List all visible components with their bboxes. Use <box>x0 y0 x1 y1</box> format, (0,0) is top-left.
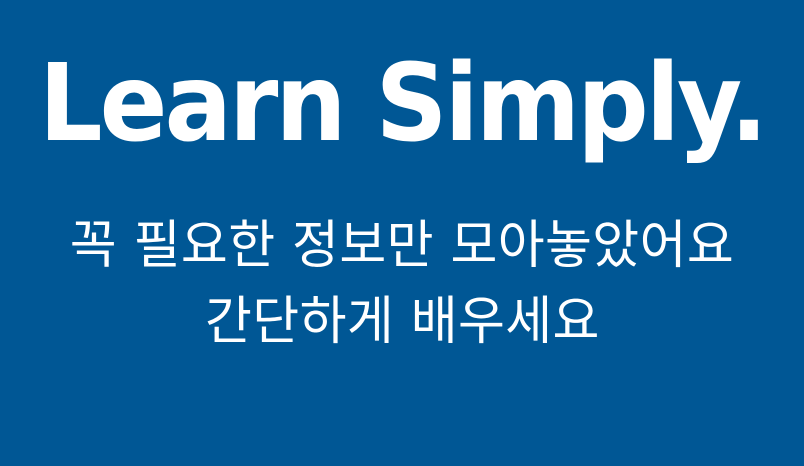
subtitle-line-1: 꼭 필요한 정보만 모아놓았어요 <box>70 208 734 284</box>
promo-banner: Learn Simply. 꼭 필요한 정보만 모아놓았어요 간단하게 배우세요 <box>0 0 804 466</box>
headline-text: Learn Simply. <box>26 44 778 164</box>
subtitle-line-2: 간단하게 배우세요 <box>205 284 600 360</box>
subtitle-block: 꼭 필요한 정보만 모아놓았어요 간단하게 배우세요 <box>0 208 804 360</box>
